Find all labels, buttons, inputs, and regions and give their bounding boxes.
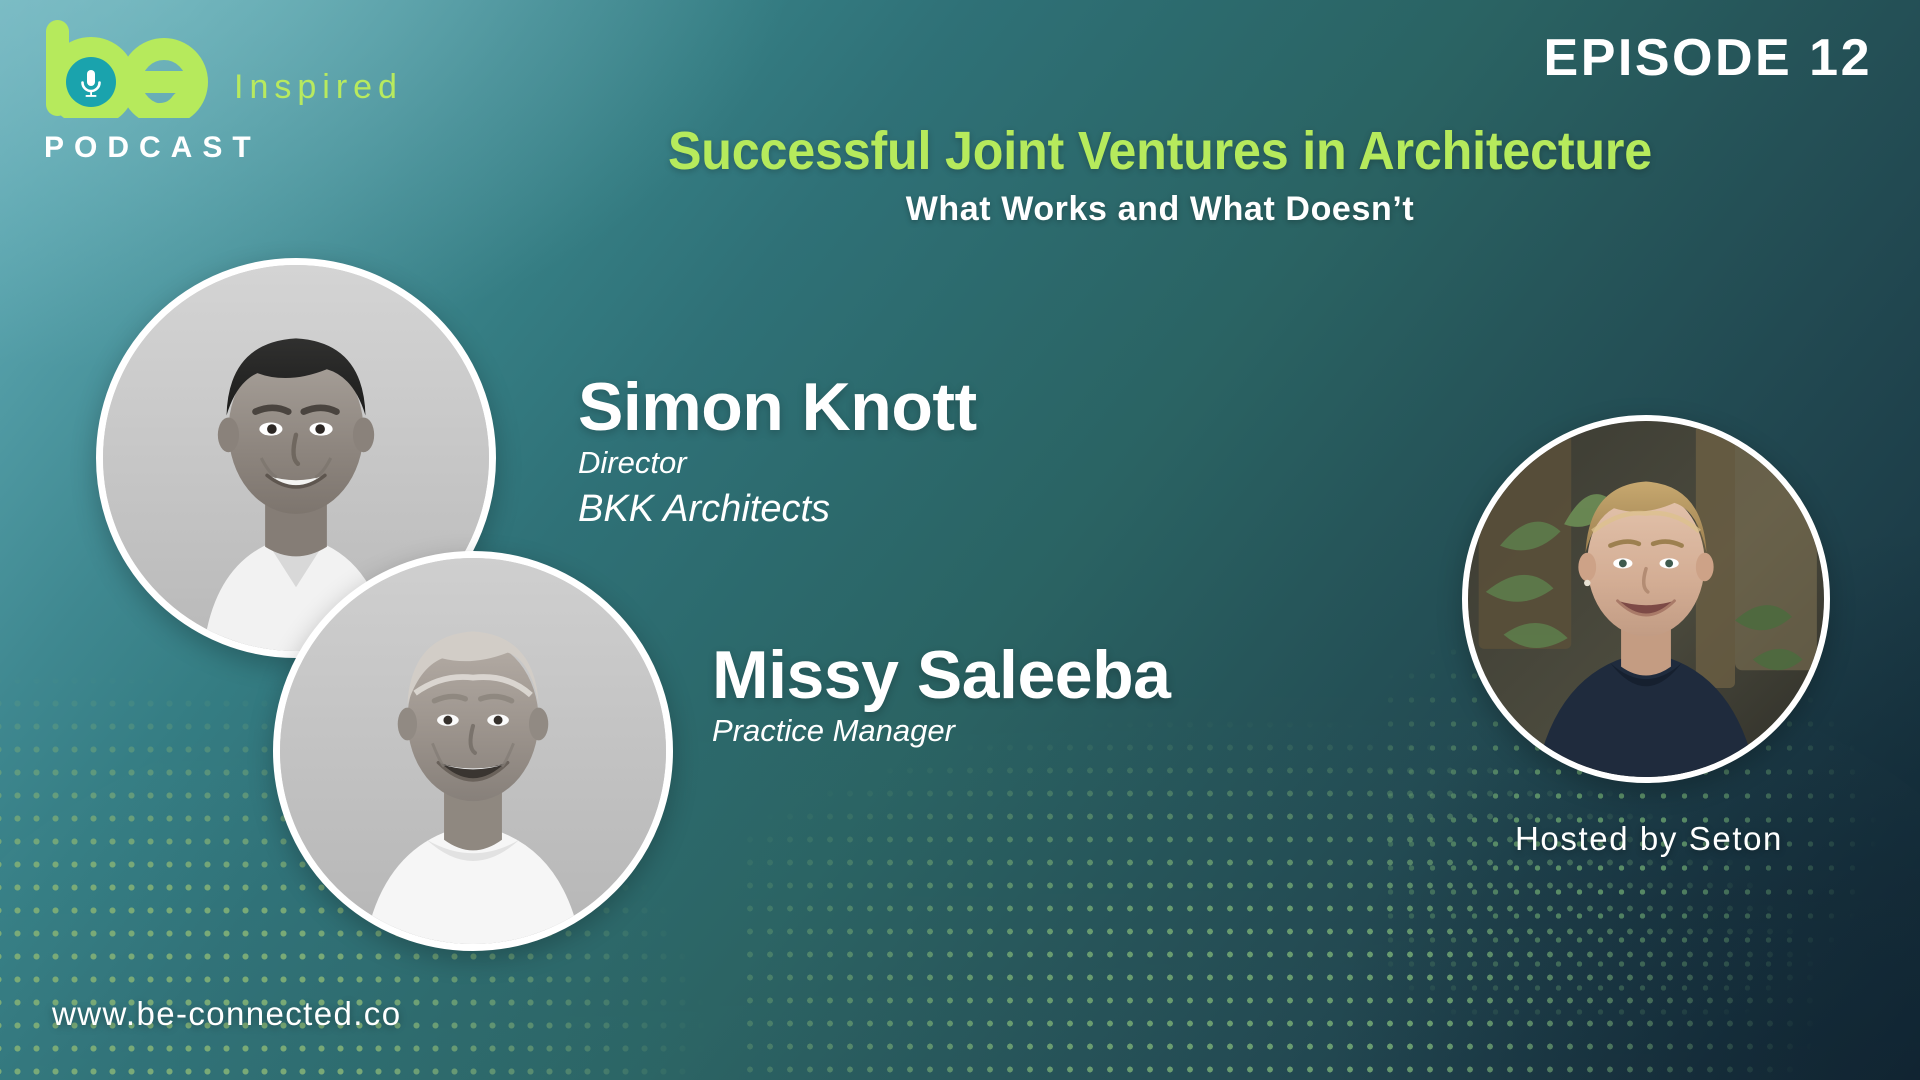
website-url[interactable]: www.be-connected.co xyxy=(52,995,401,1033)
logo-inspired-text: Inspired xyxy=(234,68,403,107)
speaker-name: Simon Knott xyxy=(578,372,977,443)
speaker-block-missy: Missy Saleeba Practice Manager xyxy=(712,640,1170,751)
be-logo-icon xyxy=(44,18,224,118)
host-caption: Hosted by Seton xyxy=(1462,820,1836,858)
avatar-host-seton xyxy=(1462,415,1830,783)
speaker-role: Director xyxy=(578,443,977,483)
speaker-organization: BKK Architects xyxy=(578,485,977,534)
portrait-missy-saleeba xyxy=(280,558,666,944)
episode-title: Successful Joint Ventures in Architectur… xyxy=(463,120,1858,182)
portrait-host-seton xyxy=(1468,421,1824,777)
episode-subtitle: What Works and What Doesn’t xyxy=(410,190,1910,229)
logo-be-mark xyxy=(44,18,224,123)
logo-podcast-label: PODCAST xyxy=(44,131,261,165)
speaker-block-simon: Simon Knott Director BKK Architects xyxy=(578,372,977,534)
speaker-name: Missy Saleeba xyxy=(712,640,1170,711)
speaker-role: Practice Manager xyxy=(712,711,1170,751)
podcast-episode-poster: Inspired PODCAST EPISODE 12 Successful J… xyxy=(0,0,1920,1080)
avatar-missy-saleeba xyxy=(273,551,673,951)
episode-badge: EPISODE 12 xyxy=(1544,28,1872,88)
